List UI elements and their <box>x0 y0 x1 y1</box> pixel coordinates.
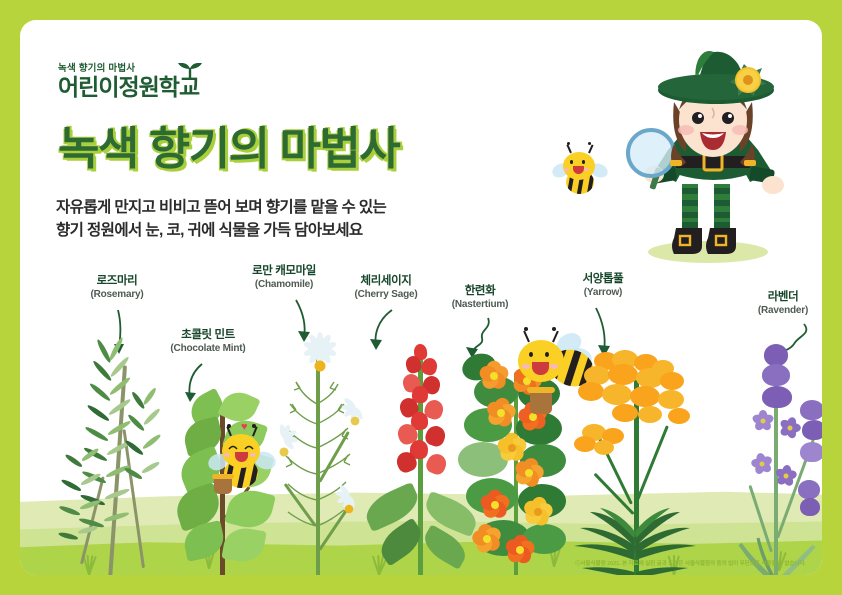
plant-label-rosemary: 로즈마리 (Rosemary) <box>62 272 172 300</box>
honey-pot <box>530 390 552 414</box>
lavender-flower <box>770 460 802 492</box>
logo-name: 어린이정원학교 <box>58 76 199 99</box>
flying-bee <box>554 144 606 200</box>
witch-hat <box>652 48 782 114</box>
label-en: (Rosemary) <box>62 289 172 300</box>
bee-head <box>518 340 564 382</box>
garden-witch-girl <box>620 48 810 268</box>
label-en: (Ravender) <box>728 305 822 316</box>
label-ko: 라벤더 <box>728 288 822 304</box>
bee-head <box>222 434 260 468</box>
bee-eye-closed <box>244 444 254 450</box>
lavender-flower <box>772 410 808 446</box>
chamomile-flower <box>333 493 366 526</box>
plant-yarrow <box>568 350 708 575</box>
label-ko: 한련화 <box>420 282 540 298</box>
yarrow-feathery-foliage <box>568 450 708 575</box>
bee-antenna <box>588 144 593 153</box>
nasturtium-flower <box>514 458 544 488</box>
chamomile-flower <box>266 434 302 470</box>
bee-antenna <box>566 144 571 153</box>
plant-label-nasturtium: 한련화 (Nastertium) <box>420 282 540 310</box>
nasturtium-flower <box>478 488 512 522</box>
bee-antenna <box>523 331 529 343</box>
subtitle-line-1: 자유롭게 만지고 비비고 뜯어 보며 향기를 맡을 수 있는 <box>56 196 526 219</box>
sprout-icon <box>177 63 203 79</box>
nasturtium-flower <box>478 360 510 392</box>
label-en: (Nastertium) <box>420 299 540 310</box>
copyright-notice: ⓒ서울식물원 2021. 본 자료에 실린 글과 도안은 서울식물원의 동의 없… <box>575 559 806 567</box>
nasturtium-flower <box>472 524 502 554</box>
chamomile-flower <box>292 338 348 394</box>
witch-right-hand <box>762 176 784 194</box>
poster-root: 녹색 향기의 마법사 어린이정원학교 녹색 향기의 마법사 자유롭게 만지고 비… <box>0 0 842 595</box>
page-title: 녹색 향기의 마법사 <box>58 126 399 171</box>
plant-label-yarrow: 서양톱풀 (Yarrow) <box>548 270 658 298</box>
brand-logo: 녹색 향기의 마법사 어린이정원학교 <box>58 60 199 100</box>
chamomile-flower <box>338 404 372 438</box>
label-en: (Yarrow) <box>548 287 658 298</box>
heart-icon: ♥ <box>241 422 248 433</box>
subtitle-line-2: 향기 정원에서 눈, 코, 귀에 식물을 가득 담아보세요 <box>56 219 526 242</box>
page-subtitle: 자유롭게 만지고 비비고 뜯어 보며 향기를 맡을 수 있는 향기 정원에서 눈… <box>56 196 526 243</box>
bee-eye-closed <box>228 444 238 450</box>
poster-card: 녹색 향기의 마법사 어린이정원학교 녹색 향기의 마법사 자유롭게 만지고 비… <box>20 20 822 575</box>
nasturtium-flower <box>522 496 554 528</box>
label-ko: 초콜릿 민트 <box>148 326 268 342</box>
label-ko: 서양톱풀 <box>548 270 658 286</box>
label-ko: 로즈마리 <box>62 272 172 288</box>
plant-label-lavender: 라벤더 (Ravender) <box>728 288 822 316</box>
nasturtium-flower <box>504 534 536 566</box>
nasturtium-flower <box>486 398 516 428</box>
plant-lavender <box>722 338 822 575</box>
